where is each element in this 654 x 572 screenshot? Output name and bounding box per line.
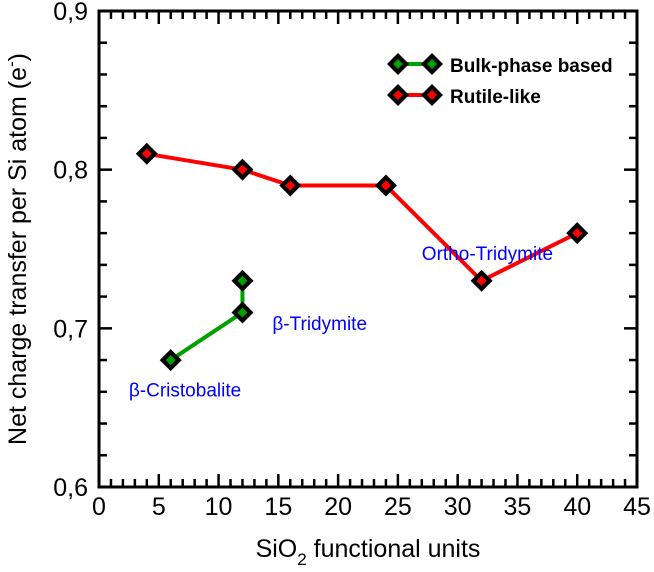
y-tick-label: 0,8 [53, 157, 88, 185]
x-tick-label: 35 [504, 493, 532, 521]
annotation-label: β-Tridymite [272, 314, 367, 335]
chart-figure: 051015202530354045 0,60,70,80,9 Ortho-Tr… [0, 0, 654, 572]
annotation-label: Ortho-Tridymite [422, 244, 553, 265]
y-tick-label: 0,6 [53, 474, 88, 502]
x-tick-label: 40 [563, 493, 591, 521]
annotation-label: β-Cristobalite [129, 381, 241, 402]
x-tick-label: 25 [384, 493, 412, 521]
x-tick-label: 15 [264, 493, 292, 521]
x-tick-label: 30 [444, 493, 472, 521]
legend-label: Bulk-phase based [450, 56, 613, 77]
y-axis-title-main: Net charge transfer per Si atom (e [4, 67, 32, 445]
y-axis-title-close: ) [4, 53, 32, 61]
y-tick-label: 0,9 [53, 0, 88, 26]
x-axis-title-rest: functional units [307, 535, 481, 563]
x-tick-label: 5 [152, 493, 166, 521]
x-tick-label: 10 [205, 493, 233, 521]
x-tick-label: 20 [324, 493, 352, 521]
y-tick-label: 0,7 [53, 315, 88, 343]
x-axis-title-main: SiO [256, 535, 298, 563]
svg-text:Net charge transfer per Si ato: Net charge transfer per Si atom (e-) [2, 53, 32, 445]
legend-label: Rutile-like [450, 87, 541, 108]
x-tick-label: 45 [623, 493, 651, 521]
x-axis-title-subscript: 2 [297, 550, 306, 569]
y-axis-title: Net charge transfer per Si atom (e-) [2, 53, 32, 445]
net-charge-transfer-line-chart: 051015202530354045 0,60,70,80,9 Ortho-Tr… [0, 0, 654, 572]
x-tick-label: 0 [92, 493, 106, 521]
